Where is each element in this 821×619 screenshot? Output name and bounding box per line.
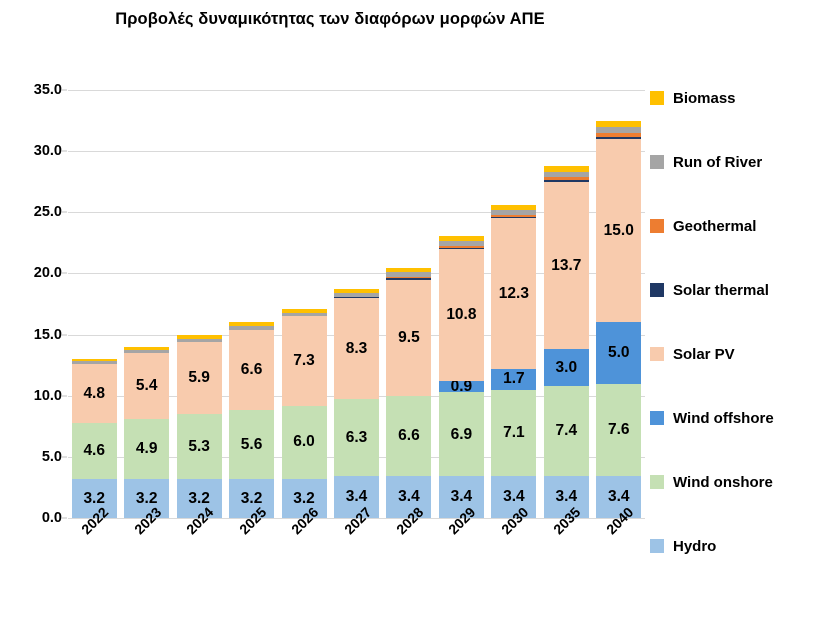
bar-value-label: 5.9 (188, 370, 210, 386)
legend-color-swatch (650, 411, 664, 425)
legend-color-swatch (650, 219, 664, 233)
legend-item-label: Wind offshore (673, 410, 774, 427)
bar-segment[interactable]: 9.5 (386, 280, 431, 396)
bar-value-label: 13.7 (551, 258, 581, 274)
bar-value-label: 6.6 (241, 362, 263, 378)
bar-segment[interactable] (439, 248, 484, 249)
bar-value-label: 5.6 (241, 437, 263, 453)
bar-segment[interactable]: 4.8 (72, 364, 117, 423)
bar-segment[interactable]: 13.7 (544, 182, 589, 350)
bar-segment[interactable]: 15.0 (596, 139, 641, 322)
y-axis-tick-label: 35.0 (6, 82, 62, 98)
bar-segment[interactable] (282, 313, 327, 317)
bar-group[interactable]: 3.47.65.015.0 (596, 90, 641, 518)
bar-value-label: 7.1 (503, 425, 525, 441)
bar-value-label: 5.0 (608, 345, 630, 361)
bar-group[interactable]: 3.24.95.4 (124, 90, 169, 518)
y-tick-mark (62, 334, 67, 335)
bar-group[interactable]: 3.25.66.6 (229, 90, 274, 518)
bar-segment[interactable] (282, 309, 327, 313)
bar-segment[interactable] (334, 293, 379, 297)
bar-value-label: 9.5 (398, 330, 420, 346)
bar-segment[interactable] (72, 361, 117, 363)
y-axis: 0.05.010.015.020.025.030.035.0 (0, 0, 62, 619)
legend-item-label: Biomass (673, 90, 736, 107)
bar-segment[interactable] (334, 297, 379, 298)
bar-segment[interactable]: 7.1 (491, 390, 536, 477)
bar-group[interactable]: 3.46.90.910.8 (439, 90, 484, 518)
y-tick-mark (62, 151, 67, 152)
legend-item-label: Solar thermal (673, 282, 769, 299)
bar-group[interactable]: 3.46.69.5 (386, 90, 431, 518)
bar-value-label: 3.4 (608, 489, 630, 505)
y-axis-tick-label: 0.0 (6, 510, 62, 526)
y-axis-tick-label: 5.0 (6, 449, 62, 465)
bar-value-label: 3.4 (556, 489, 578, 505)
y-tick-mark (62, 395, 67, 396)
bar-value-label: 3.4 (503, 489, 525, 505)
y-axis-tick-label: 15.0 (6, 327, 62, 343)
bar-value-label: 6.9 (451, 427, 473, 443)
bar-value-label: 3.2 (188, 491, 210, 507)
legend-item-label: Solar PV (673, 346, 735, 363)
bar-value-label: 3.4 (451, 489, 473, 505)
legend-color-swatch (650, 91, 664, 105)
chart-legend: BiomassRun of RiverGeothermalSolar therm… (650, 88, 821, 568)
bar-segment[interactable]: 12.3 (491, 218, 536, 368)
bar-group[interactable]: 3.26.07.3 (282, 90, 327, 518)
bar-segment[interactable] (229, 326, 274, 330)
bar-segment[interactable] (229, 322, 274, 326)
legend-item[interactable]: Solar thermal (650, 280, 769, 300)
bar-segment[interactable]: 0.9 (439, 381, 484, 392)
bar-segment[interactable] (491, 205, 536, 210)
bar-segment[interactable] (491, 215, 536, 217)
bar-segment[interactable] (124, 350, 169, 353)
bar-segment[interactable]: 6.6 (386, 396, 431, 477)
bar-value-label: 6.6 (398, 428, 420, 444)
bar-segment[interactable] (334, 289, 379, 293)
bar-value-label: 5.3 (188, 439, 210, 455)
bar-segment[interactable] (386, 268, 431, 272)
legend-item[interactable]: Biomass (650, 88, 736, 108)
legend-item[interactable]: Wind offshore (650, 408, 774, 428)
bar-value-label: 7.6 (608, 422, 630, 438)
bar-segment[interactable] (544, 166, 589, 172)
legend-color-swatch (650, 155, 664, 169)
bar-value-label: 1.7 (503, 371, 525, 387)
bar-segment[interactable] (544, 180, 589, 181)
bar-group[interactable]: 3.47.43.013.7 (544, 90, 589, 518)
bar-segment[interactable] (491, 210, 536, 215)
bar-segment[interactable] (596, 121, 641, 127)
bar-value-label: 6.3 (346, 430, 368, 446)
legend-item[interactable]: Wind onshore (650, 472, 773, 492)
bar-segment[interactable]: 6.3 (334, 399, 379, 476)
bar-segment[interactable]: 7.6 (596, 384, 641, 477)
bar-value-label: 4.6 (83, 443, 105, 459)
bar-segment[interactable] (386, 278, 431, 279)
legend-item-label: Hydro (673, 538, 716, 555)
y-axis-tick-label: 30.0 (6, 143, 62, 159)
bar-value-label: 10.8 (446, 307, 476, 323)
y-axis-tick-label: 25.0 (6, 204, 62, 220)
bar-value-label: 8.3 (346, 341, 368, 357)
bar-segment[interactable] (386, 272, 431, 276)
bar-segment[interactable] (386, 277, 431, 279)
bar-segment[interactable] (72, 359, 117, 361)
chart-container: Προβολές δυναμικότητας των διαφόρων μορφ… (0, 0, 821, 619)
legend-item-label: Wind onshore (673, 474, 773, 491)
bar-segment[interactable]: 5.0 (596, 322, 641, 383)
bar-value-label: 5.4 (136, 378, 158, 394)
bar-segment[interactable] (124, 347, 169, 350)
bar-segment[interactable]: 8.3 (334, 298, 379, 399)
y-tick-mark (62, 518, 67, 519)
bar-segment[interactable] (439, 236, 484, 241)
bar-segment[interactable] (596, 137, 641, 139)
legend-color-swatch (650, 283, 664, 297)
bar-segment[interactable]: 6.0 (282, 406, 327, 479)
bar-value-label: 6.0 (293, 434, 315, 450)
legend-item-label: Run of River (673, 154, 762, 171)
bar-group[interactable]: 3.47.11.712.3 (491, 90, 536, 518)
bar-value-label: 3.4 (398, 489, 420, 505)
bar-segment[interactable] (177, 335, 222, 339)
bar-segment[interactable] (491, 217, 536, 218)
bar-segment[interactable]: 6.6 (229, 330, 274, 411)
bar-segment[interactable]: 5.3 (177, 414, 222, 479)
bar-segment[interactable]: 7.3 (282, 316, 327, 405)
bar-segment[interactable]: 4.6 (72, 423, 117, 479)
legend-item[interactable]: Run of River (650, 152, 762, 172)
bar-value-label: 3.2 (293, 491, 315, 507)
bar-segment[interactable]: 1.7 (491, 369, 536, 390)
bar-value-label: 3.2 (83, 491, 105, 507)
legend-item[interactable]: Solar PV (650, 344, 735, 364)
bar-segment[interactable]: 10.8 (439, 249, 484, 381)
legend-color-swatch (650, 539, 664, 553)
bar-segment[interactable]: 3.0 (544, 349, 589, 386)
legend-color-swatch (650, 347, 664, 361)
bar-segment[interactable]: 4.9 (124, 419, 169, 479)
bar-value-label: 0.9 (451, 379, 473, 395)
bar-value-label: 3.0 (556, 360, 578, 376)
bar-segment[interactable]: 5.6 (229, 410, 274, 478)
y-axis-tick-label: 20.0 (6, 265, 62, 281)
legend-item[interactable]: Geothermal (650, 216, 756, 236)
y-tick-mark (62, 273, 67, 274)
bar-segment[interactable]: 5.9 (177, 342, 222, 414)
bar-value-label: 3.2 (136, 491, 158, 507)
y-tick-mark (62, 456, 67, 457)
bar-value-label: 7.4 (556, 423, 578, 439)
legend-color-swatch (650, 475, 664, 489)
y-tick-mark (62, 212, 67, 213)
bar-segment[interactable] (439, 246, 484, 248)
legend-item-label: Geothermal (673, 218, 756, 235)
chart-title: Προβολές δυναμικότητας των διαφόρων μορφ… (0, 10, 660, 29)
bar-value-label: 3.4 (346, 489, 368, 505)
bar-group[interactable]: 3.25.35.9 (177, 90, 222, 518)
bar-value-label: 7.3 (293, 353, 315, 369)
legend-item[interactable]: Hydro (650, 536, 716, 556)
bar-value-label: 4.9 (136, 441, 158, 457)
bar-segment[interactable]: 7.4 (544, 386, 589, 476)
bar-segment[interactable] (544, 172, 589, 178)
bar-value-label: 15.0 (604, 223, 634, 239)
bar-segment[interactable]: 6.9 (439, 392, 484, 476)
bar-segment[interactable]: 5.4 (124, 353, 169, 419)
bar-segment[interactable] (439, 241, 484, 246)
bar-value-label: 3.2 (241, 491, 263, 507)
bar-segment[interactable] (596, 127, 641, 133)
y-axis-tick-label: 10.0 (6, 388, 62, 404)
bar-value-label: 4.8 (83, 386, 105, 402)
bar-group[interactable]: 3.46.38.3 (334, 90, 379, 518)
bar-value-label: 12.3 (499, 286, 529, 302)
y-tick-mark (62, 90, 67, 91)
bar-group[interactable]: 3.24.64.8 (72, 90, 117, 518)
bar-segment[interactable] (596, 133, 641, 137)
bar-segment[interactable] (544, 177, 589, 180)
bar-segment[interactable] (177, 339, 222, 342)
